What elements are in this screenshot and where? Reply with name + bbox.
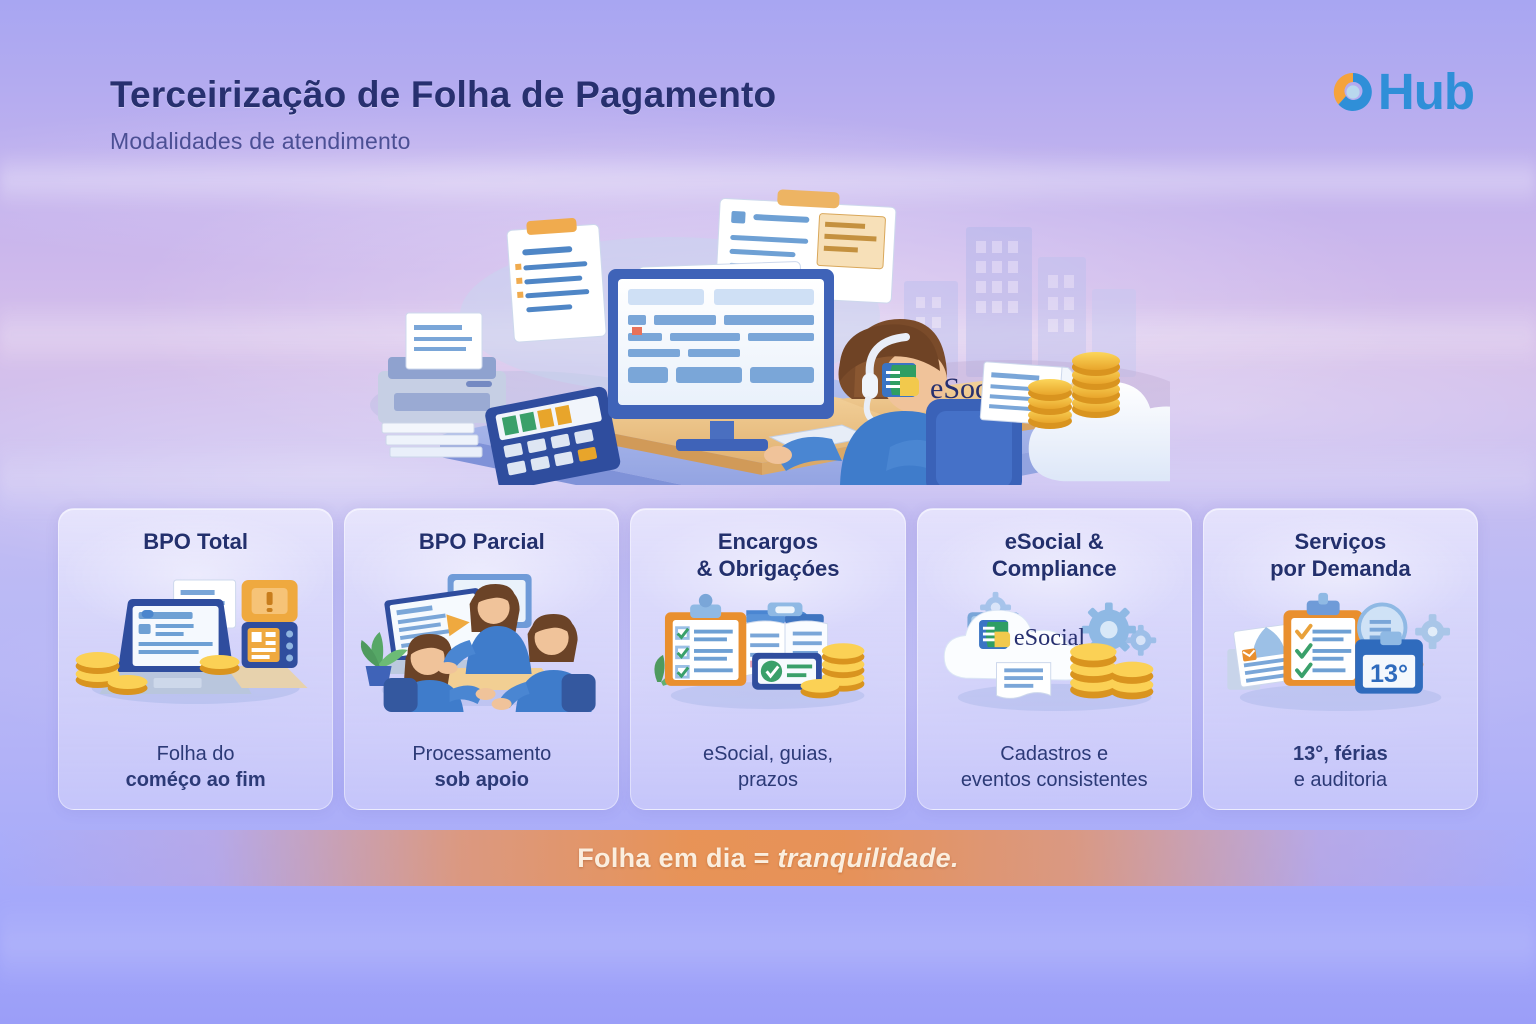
laptop-coins-icon [59, 562, 332, 712]
tagline-banner: Folha em dia = tranquilidade. [0, 830, 1536, 886]
tagline-text: Folha em dia = tranquilidade. [577, 843, 959, 874]
card-title: BPO Total [59, 509, 332, 556]
card-title-line1: eSocial & [1005, 529, 1104, 554]
card-desc-line2: e auditoria [1294, 769, 1387, 791]
card-description: 13°, férias e auditoria [1204, 741, 1477, 793]
card-title: Serviços por Demanda [1204, 509, 1477, 583]
card-title-line2: por Demanda [1270, 556, 1411, 581]
service-cards-row: BPO Total [58, 508, 1478, 810]
page-subtitle: Modalidades de atendimento [110, 128, 776, 155]
clipboard-icon [1283, 593, 1362, 686]
clipboard-checklist-icon [631, 589, 904, 711]
card-title: BPO Parcial [345, 509, 618, 556]
card-esocial-compliance[interactable]: eSocial & Compliance [917, 508, 1192, 810]
card-title-line1: Serviços [1295, 529, 1387, 554]
logo-wordmark: Hub [1378, 66, 1474, 117]
brand-logo[interactable]: Hub [1330, 66, 1474, 117]
page-title: Terceirização de Folha de Pagamento [110, 74, 776, 117]
card-servicos-por-demanda[interactable]: Serviços por Demanda [1203, 508, 1478, 810]
calendar-icon: 13° [1355, 631, 1423, 693]
card-desc-line1: Folha do [157, 743, 235, 765]
card-desc-line1: Processamento [412, 743, 551, 765]
calendar-13-audit-icon: 13° [1204, 589, 1477, 711]
hero-illustration: eSocial [370, 185, 1170, 485]
card-title-line2: Compliance [992, 556, 1117, 581]
ohub-circle-icon [1330, 69, 1376, 115]
infographic-canvas: Terceirização de Folha de Pagamento Moda… [0, 0, 1536, 1024]
cloud-band-bottom [0, 900, 1536, 990]
card-desc-line2: sob apoio [435, 769, 529, 791]
card-desc-line2: eventos consistentes [961, 769, 1148, 791]
clipboard-icon [665, 593, 746, 685]
team-meeting-icon [345, 562, 618, 712]
paper-stack-icon [382, 423, 482, 457]
card-encargos-obrigacoes[interactable]: Encargos & Obrigaçóes [630, 508, 905, 810]
card-description: Cadastros e eventos consistentes [918, 741, 1191, 793]
header-block: Terceirização de Folha de Pagamento Moda… [110, 74, 776, 155]
document-icon [996, 662, 1050, 698]
card-title: eSocial & Compliance [918, 509, 1191, 583]
card-title-line1: Encargos [718, 529, 818, 554]
card-desc-line2: prazos [738, 769, 798, 791]
card-desc-line2: coméço ao fim [126, 769, 266, 791]
card-description: eSocial, guias, prazos [631, 741, 904, 793]
card-title-line2: & Obrigaçóes [696, 556, 839, 581]
card-desc-line1: Cadastros e [1000, 743, 1108, 765]
card-bpo-parcial[interactable]: BPO Parcial [344, 508, 619, 810]
card-desc-line1: eSocial, guias, [703, 743, 833, 765]
card-description: Processamento sob apoio [345, 741, 618, 793]
calendar-label: 13° [1370, 660, 1408, 688]
card-desc-line1: 13°, férias [1293, 743, 1388, 765]
esocial-cloud-gear-icon: eSocial [918, 589, 1191, 711]
card-title: Encargos & Obrigaçóes [631, 509, 904, 583]
tagline-italic: tranquilidade. [778, 843, 959, 873]
card-bpo-total[interactable]: BPO Total [58, 508, 333, 810]
card-description: Folha do coméço ao fim [59, 741, 332, 793]
tagline-plain: Folha em dia = [577, 843, 777, 873]
